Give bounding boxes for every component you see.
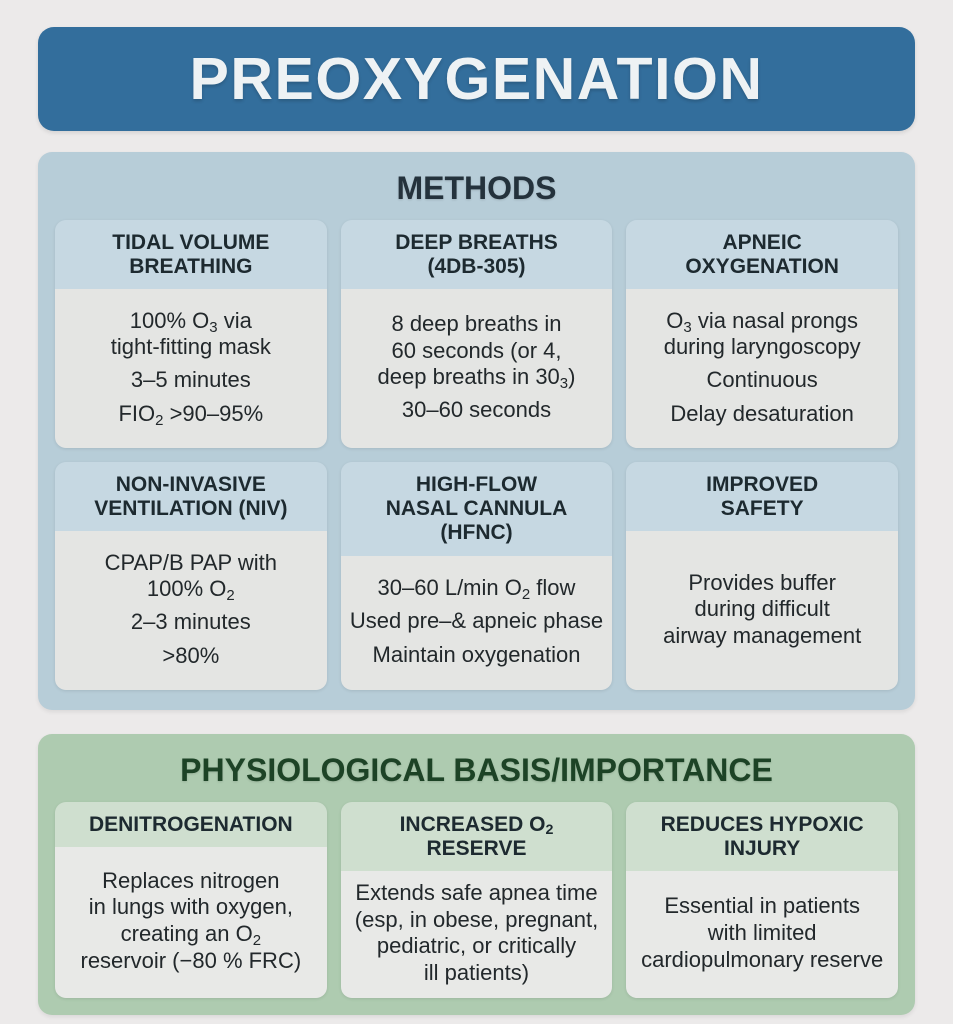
card-body: Essential in patientswith limitedcardiop… [626,871,898,997]
card-line: Provides bufferduring difficultairway ma… [663,570,861,649]
card-body: 100% O3 viatight-fitting mask 3–5 minute… [55,289,327,447]
card-line: FIO2 >90–95% [118,401,263,427]
card-increased-o2-reserve: INCREASED O2 RESERVE Extends safe apnea … [341,802,613,998]
section-heading-methods: METHODS [55,172,898,206]
card-body: O3 via nasal prongsduring laryngoscopy C… [626,289,898,447]
card-line: Used pre–& apneic phase [350,608,603,634]
card-line: Delay desaturation [670,401,853,427]
methods-row-2: NON-INVASIVEVENTILATION (NIV) CPAP/B PAP… [55,462,898,690]
card-title: NON-INVASIVEVENTILATION (NIV) [55,462,327,532]
card-line: Maintain oxygenation [373,642,581,668]
card-title: INCREASED O2 RESERVE [341,802,613,872]
card-line: 30–60 L/min O2 flow [378,575,576,601]
card-title: TIDAL VOLUMEBREATHING [55,220,327,290]
card-improved-safety: IMPROVEDSAFETY Provides bufferduring dif… [626,462,898,690]
methods-row-1: TIDAL VOLUMEBREATHING 100% O3 viatight-f… [55,220,898,448]
section-heading-physiological: PHYSIOLOGICAL BASIS/IMPORTANCE [55,754,898,788]
card-title: DENITROGENATION [55,802,327,847]
card-reduces-hypoxic-injury: REDUCES HYPOXICINJURY Essential in patie… [626,802,898,998]
card-line: 3–5 minutes [131,367,251,393]
card-line: 100% O3 viatight-fitting mask [111,308,271,361]
card-title: HIGH-FLOWNASAL CANNULA(HFNC) [341,462,613,556]
card-line: Replaces nitrogenin lungs with oxygen,cr… [81,868,302,975]
card-body: 8 deep breaths in60 seconds (or 4,deep b… [341,289,613,447]
card-denitrogenation: DENITROGENATION Replaces nitrogenin lung… [55,802,327,998]
card-high-flow-nasal-cannula: HIGH-FLOWNASAL CANNULA(HFNC) 30–60 L/min… [341,462,613,690]
title-banner: PREOXYGENATION [38,27,915,131]
card-line: 30–60 seconds [402,397,551,423]
section-methods: METHODS TIDAL VOLUMEBREATHING 100% O3 vi… [38,152,915,710]
card-body: Provides bufferduring difficultairway ma… [626,531,898,689]
card-line: CPAP/B PAP with100% O2 [105,550,277,603]
card-line: Extends safe apnea time(esp, in obese, p… [355,880,598,987]
card-title: REDUCES HYPOXICINJURY [626,802,898,872]
card-title: APNEICOXYGENATION [626,220,898,290]
card-title: DEEP BREATHS(4DB-305) [341,220,613,290]
card-line: O3 via nasal prongsduring laryngoscopy [664,308,861,361]
card-apneic-oxygenation: APNEICOXYGENATION O3 via nasal prongsdur… [626,220,898,448]
card-deep-breaths: DEEP BREATHS(4DB-305) 8 deep breaths in6… [341,220,613,448]
card-line: 2–3 minutes [131,609,251,635]
card-title: IMPROVEDSAFETY [626,462,898,532]
infographic-page: PREOXYGENATION METHODS TIDAL VOLUMEBREAT… [0,0,953,1024]
card-body: CPAP/B PAP with100% O2 2–3 minutes >80% [55,531,327,689]
card-line: Essential in patientswith limitedcardiop… [641,893,883,973]
section-physiological-basis: PHYSIOLOGICAL BASIS/IMPORTANCE DENITROGE… [38,734,915,1015]
card-body: Extends safe apnea time(esp, in obese, p… [341,871,613,997]
card-line: >80% [162,643,219,669]
card-line: 8 deep breaths in60 seconds (or 4,deep b… [378,311,576,390]
physio-row-1: DENITROGENATION Replaces nitrogenin lung… [55,802,898,998]
card-line: Continuous [707,367,818,393]
card-tidal-volume-breathing: TIDAL VOLUMEBREATHING 100% O3 viatight-f… [55,220,327,448]
card-non-invasive-ventilation: NON-INVASIVEVENTILATION (NIV) CPAP/B PAP… [55,462,327,690]
card-body: 30–60 L/min O2 flow Used pre–& apneic ph… [341,556,613,690]
card-body: Replaces nitrogenin lungs with oxygen,cr… [55,847,327,998]
page-title: PREOXYGENATION [190,50,764,109]
